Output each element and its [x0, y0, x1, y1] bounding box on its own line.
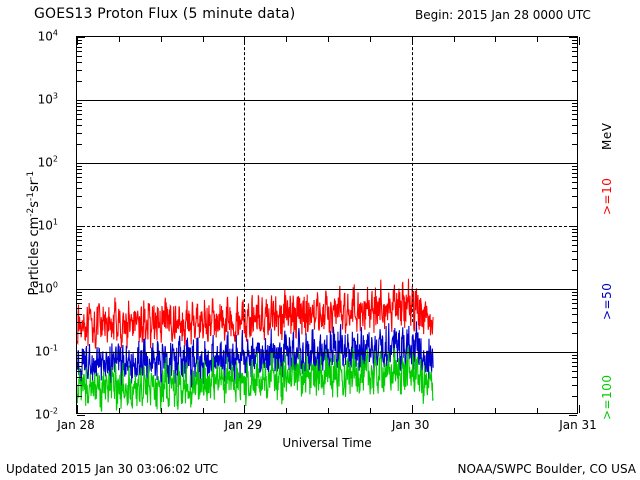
y-tick-minor: [572, 188, 577, 189]
chart-title: GOES13 Proton Flux (5 minute data): [34, 6, 295, 22]
y-tick-minor: [77, 333, 82, 334]
y-tick-major: [77, 415, 85, 416]
x-tick-major: [244, 405, 245, 413]
y-tick-minor: [572, 308, 577, 309]
y-tick-minor: [77, 229, 82, 230]
x-tick-label: Jan 30: [392, 418, 430, 432]
y-tick-minor: [77, 299, 82, 300]
y-tick-minor: [77, 56, 82, 57]
y-tick-major: [569, 37, 577, 38]
y-tick-minor: [572, 177, 577, 178]
y-tick-minor: [77, 114, 82, 115]
x-tick-minor: [537, 408, 538, 413]
y-axis-title: Particles cm-2s-1sr-1: [26, 123, 42, 343]
y-tick-label: 104: [38, 29, 58, 44]
y-tick-minor: [572, 182, 577, 183]
y-tick-major: [569, 352, 577, 353]
y-tick-minor: [77, 144, 82, 145]
y-tick-minor: [572, 166, 577, 167]
x-tick-minor: [119, 408, 120, 413]
y-tick-minor: [77, 125, 82, 126]
y-tick-minor: [572, 355, 577, 356]
x-tick-major: [77, 37, 78, 45]
y-tick-minor: [572, 169, 577, 170]
y-tick-minor: [77, 314, 82, 315]
y-tick-minor: [77, 236, 82, 237]
y-tick-minor: [572, 377, 577, 378]
y-tick-minor: [77, 207, 82, 208]
y-tick-minor: [572, 51, 577, 52]
y-tick-major: [77, 352, 85, 353]
gridline-10: [77, 226, 577, 227]
y-tick-minor: [77, 322, 82, 323]
x-tick-minor: [286, 37, 287, 42]
gridline-1000: [77, 100, 577, 101]
y-tick-minor: [572, 385, 577, 386]
y-tick-minor: [77, 366, 82, 367]
y-tick-label: 10-1: [35, 344, 58, 359]
x-tick-minor: [495, 408, 496, 413]
y-tick-minor: [572, 396, 577, 397]
y-tick-minor: [572, 125, 577, 126]
y-tick-minor: [77, 308, 82, 309]
y-tick-minor: [77, 119, 82, 120]
day-separator: [412, 37, 413, 322]
y-tick-minor: [572, 40, 577, 41]
y-tick-minor: [77, 51, 82, 52]
y-tick-minor: [77, 103, 82, 104]
y-tick-minor: [572, 110, 577, 111]
y-tick-major: [77, 163, 85, 164]
y-tick-minor: [572, 366, 577, 367]
y-tick-minor: [572, 314, 577, 315]
y-tick-major: [569, 100, 577, 101]
y-tick-minor: [572, 133, 577, 134]
x-tick-minor: [495, 37, 496, 42]
y-tick-minor: [572, 292, 577, 293]
y-tick-minor: [572, 119, 577, 120]
x-tick-minor: [203, 37, 204, 42]
gridline-1: [77, 289, 577, 290]
y-tick-minor: [77, 110, 82, 111]
y-tick-label: 103: [38, 92, 58, 107]
y-tick-minor: [77, 270, 82, 271]
y-tick-minor: [77, 232, 82, 233]
updated-timestamp: Updated 2015 Jan 30 03:06:02 UTC: [6, 462, 218, 476]
y-tick-minor: [77, 70, 82, 71]
y-tick-minor: [77, 385, 82, 386]
y-tick-minor: [77, 358, 82, 359]
y-tick-minor: [572, 232, 577, 233]
x-tick-label: Jan 29: [225, 418, 263, 432]
gridline-0.1: [77, 352, 577, 353]
y-tick-minor: [77, 166, 82, 167]
provider-credit: NOAA/SWPC Boulder, CO USA: [458, 462, 636, 476]
day-separator: [244, 37, 245, 322]
gridline-100: [77, 163, 577, 164]
y-tick-minor: [77, 196, 82, 197]
legend-unit-mev: MeV: [600, 123, 614, 150]
y-tick-minor: [77, 173, 82, 174]
y-tick-minor: [77, 377, 82, 378]
y-tick-minor: [572, 259, 577, 260]
y-tick-minor: [572, 303, 577, 304]
y-tick-minor: [77, 81, 82, 82]
x-tick-minor: [328, 37, 329, 42]
y-tick-minor: [572, 207, 577, 208]
y-tick-minor: [572, 333, 577, 334]
y-tick-minor: [572, 56, 577, 57]
plot-area: [76, 36, 578, 414]
y-tick-minor: [572, 106, 577, 107]
legend-entry-ge50: >=50: [600, 283, 614, 320]
y-tick-minor: [77, 371, 82, 372]
y-tick-minor: [77, 188, 82, 189]
y-tick-minor: [77, 106, 82, 107]
y-tick-minor: [77, 396, 82, 397]
y-tick-minor: [572, 196, 577, 197]
y-tick-minor: [572, 229, 577, 230]
y-tick-minor: [572, 240, 577, 241]
y-tick-label: 10-2: [35, 407, 58, 422]
x-tick-minor: [161, 37, 162, 42]
y-tick-minor: [77, 133, 82, 134]
y-tick-major: [569, 289, 577, 290]
y-tick-minor: [572, 295, 577, 296]
x-tick-label: Jan 31: [559, 418, 597, 432]
x-tick-major: [579, 37, 580, 45]
y-tick-minor: [572, 81, 577, 82]
y-tick-major: [77, 226, 85, 227]
y-tick-major: [569, 163, 577, 164]
y-tick-minor: [77, 303, 82, 304]
y-tick-minor: [77, 240, 82, 241]
begin-time-label: Begin: 2015 Jan 28 0000 UTC: [415, 8, 591, 22]
x-tick-major: [412, 405, 413, 413]
x-tick-minor: [454, 37, 455, 42]
y-tick-minor: [572, 70, 577, 71]
y-tick-minor: [77, 259, 82, 260]
x-tick-minor: [328, 408, 329, 413]
x-tick-minor: [119, 37, 120, 42]
y-tick-minor: [572, 144, 577, 145]
x-tick-minor: [537, 37, 538, 42]
y-tick-minor: [77, 251, 82, 252]
y-tick-major: [77, 289, 85, 290]
x-tick-minor: [370, 408, 371, 413]
y-tick-minor: [572, 43, 577, 44]
y-tick-minor: [572, 362, 577, 363]
y-tick-major: [569, 415, 577, 416]
y-tick-minor: [77, 62, 82, 63]
x-axis-title: Universal Time: [282, 436, 371, 450]
y-tick-major: [77, 37, 85, 38]
y-tick-minor: [77, 362, 82, 363]
y-tick-minor: [572, 322, 577, 323]
x-tick-minor: [454, 408, 455, 413]
x-tick-label: Jan 28: [57, 418, 95, 432]
y-tick-minor: [572, 62, 577, 63]
y-tick-minor: [77, 355, 82, 356]
y-tick-minor: [572, 114, 577, 115]
y-tick-minor: [572, 236, 577, 237]
y-tick-minor: [77, 169, 82, 170]
y-tick-minor: [77, 47, 82, 48]
y-tick-minor: [572, 47, 577, 48]
x-tick-minor: [203, 408, 204, 413]
y-tick-major: [77, 100, 85, 101]
y-tick-minor: [572, 371, 577, 372]
y-tick-minor: [572, 103, 577, 104]
x-tick-minor: [370, 37, 371, 42]
x-tick-major: [77, 405, 78, 413]
legend-entry-ge10: >=10: [600, 178, 614, 215]
x-tick-minor: [286, 408, 287, 413]
y-tick-minor: [572, 251, 577, 252]
y-tick-minor: [77, 292, 82, 293]
y-tick-minor: [572, 245, 577, 246]
y-tick-minor: [572, 173, 577, 174]
y-tick-minor: [77, 295, 82, 296]
y-tick-major: [569, 226, 577, 227]
data-series-layer: [77, 37, 577, 413]
y-tick-minor: [572, 358, 577, 359]
legend-entry-ge100: >=100: [600, 374, 614, 420]
y-tick-minor: [77, 182, 82, 183]
x-tick-major: [579, 405, 580, 413]
y-tick-minor: [572, 299, 577, 300]
y-tick-minor: [77, 245, 82, 246]
x-tick-minor: [161, 408, 162, 413]
y-tick-minor: [77, 177, 82, 178]
y-tick-minor: [572, 270, 577, 271]
